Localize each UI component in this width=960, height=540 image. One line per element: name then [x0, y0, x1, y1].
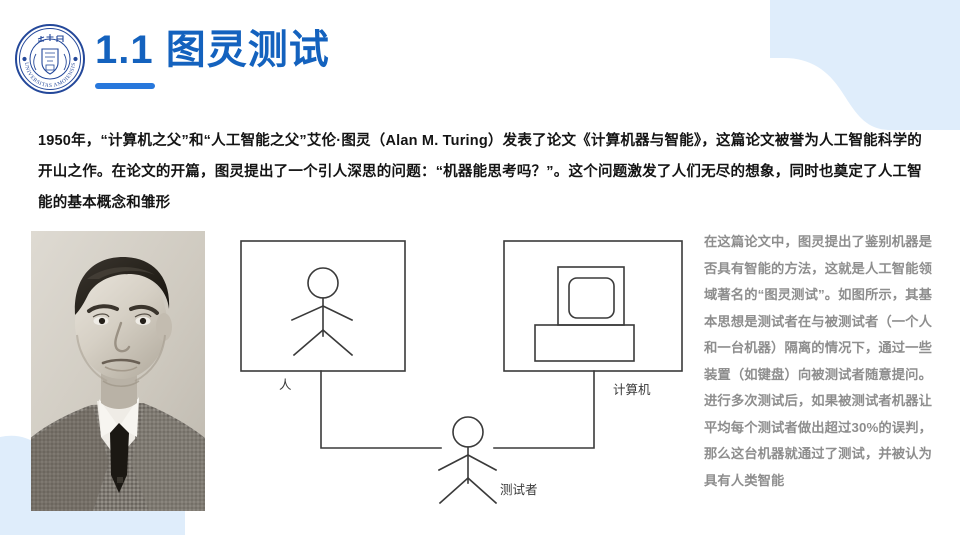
turing-test-diagram: 人 计算机 测试者 — [228, 228, 698, 513]
slide-header: UNIVERSITAS AMOIENSIS 1.1 图灵测试 — [0, 0, 960, 110]
diagram-label-computer: 计算机 — [613, 382, 651, 397]
diagram-label-tester: 测试者 — [500, 482, 538, 497]
page-title-block: 1.1 图灵测试 — [95, 26, 330, 74]
title-underline-bar — [95, 83, 155, 89]
slide-root: UNIVERSITAS AMOIENSIS 1.1 图灵测试 1950年，“计算… — [0, 0, 960, 540]
page-title: 1.1 图灵测试 — [95, 26, 330, 74]
computer-room-box — [504, 241, 682, 371]
side-note-paragraph: 在这篇论文中，图灵提出了鉴别机器是否具有智能的方法，这就是人工智能领域著名的“图… — [704, 229, 932, 494]
university-seal-icon: UNIVERSITAS AMOIENSIS — [14, 23, 86, 95]
diagram-label-human: 人 — [279, 378, 292, 392]
intro-paragraph: 1950年，“计算机之父”和“人工智能之父”艾伦·图灵（Alan M. Turi… — [38, 126, 922, 219]
turing-portrait-photo — [31, 231, 205, 511]
